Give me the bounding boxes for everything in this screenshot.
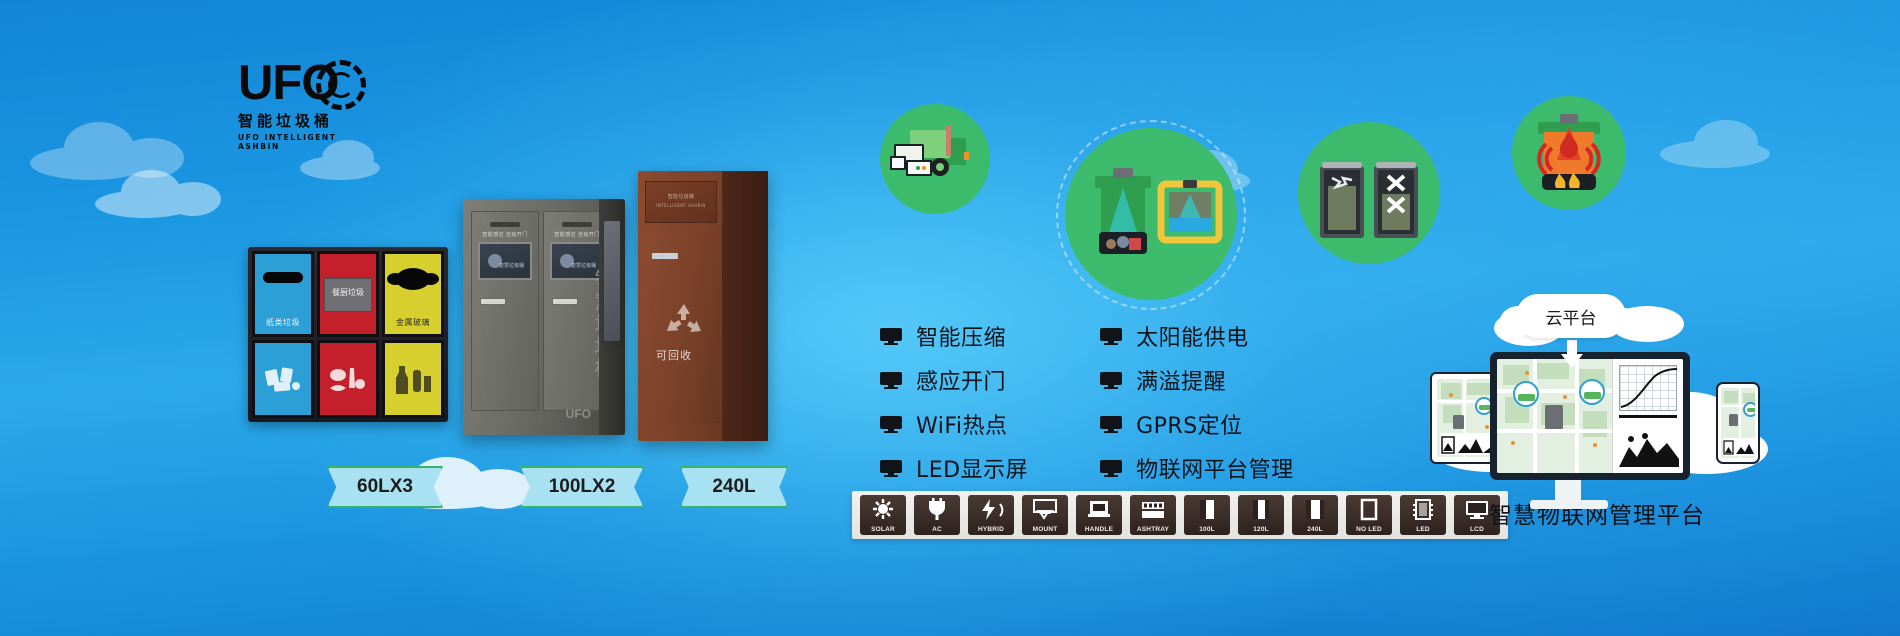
waste-round-slot-icon: [396, 268, 430, 290]
brown-bin-badge: [652, 253, 678, 259]
iot-platform-graphic: 云平台: [1430, 300, 1760, 530]
monitor-icon: [1100, 460, 1122, 477]
door-caption: 智能感应 自动开门: [482, 231, 527, 238]
fill-level-illustration: [1065, 128, 1237, 300]
door-caption: 智能感应 自动开门: [554, 231, 599, 238]
grey-bin-door-left: 智能感应 自动开门 智慧垃圾桶: [471, 211, 539, 411]
monitor-screen: [1497, 359, 1683, 473]
option-capacity-100l-icon[interactable]: 100L: [1184, 495, 1230, 535]
display-text: 智慧垃圾桶: [571, 262, 596, 269]
option-wall-mount-icon[interactable]: MOUNT: [1022, 495, 1068, 535]
capacity-label: 100LX2: [549, 476, 616, 498]
capacity-badge-100lx2: 100LX2: [520, 466, 644, 508]
feature-label: 物联网平台管理: [1136, 452, 1294, 484]
bin-compartment-kitchen: 餐厨垃圾: [317, 251, 379, 418]
smartphone-device: [1716, 382, 1760, 464]
capacity-label: 240L: [712, 476, 755, 498]
feature-circle-fill-level: [1065, 128, 1237, 300]
feature-label: 满溢提醒: [1136, 364, 1226, 396]
desktop-monitor: [1490, 352, 1690, 480]
capacity-label: 60LX3: [357, 476, 413, 498]
option-label: 120L: [1238, 526, 1284, 533]
monitor-foot: [1530, 500, 1608, 509]
monitor-icon: [880, 372, 902, 389]
option-label: 100L: [1184, 526, 1230, 533]
cloud-platform-label: 云平台: [1516, 294, 1626, 338]
feature-item: 满溢提醒: [1100, 364, 1294, 396]
grey-bin-side-panel: [599, 199, 625, 435]
feature-item: 太阳能供电: [1100, 320, 1294, 352]
feature-label: LED显示屏: [916, 452, 1028, 484]
feature-label: 感应开门: [916, 364, 1006, 396]
option-label: HYBRID: [968, 526, 1014, 533]
kitchen-waste-illustration: [326, 362, 370, 396]
feature-item: 智能压缩: [880, 320, 1028, 352]
feature-item: GPRS定位: [1100, 408, 1294, 440]
feature-label: GPRS定位: [1136, 408, 1243, 440]
option-label: 240L: [1292, 526, 1338, 533]
chart-pane: [1612, 359, 1683, 473]
bin-compartment-paper: 纸类垃圾: [252, 251, 314, 418]
logo-ring-icon: [316, 60, 366, 110]
area-chart: [1619, 433, 1679, 467]
monitor-icon: [1100, 328, 1122, 345]
brown-bin-top-en: INTELLIGENT ASHBIN: [646, 203, 716, 208]
feature-item: LED显示屏: [880, 452, 1028, 484]
monitor-icon: [880, 328, 902, 345]
monitor-icon: [880, 416, 902, 433]
product-grey-smart-bin: 智能感应 自动开门 智慧垃圾桶 智能感应 自动开门 智慧垃圾桶 智慧垃圾桶 UF…: [463, 199, 625, 435]
metal-glass-illustration: [391, 362, 435, 396]
capacity-badge-60lx3: 60LX3: [327, 466, 443, 508]
product-brown-bin: 智能垃圾桶 INTELLIGENT ASHBIN 可回收: [638, 171, 768, 441]
option-solar-panel-icon[interactable]: SOLAR: [860, 495, 906, 535]
option-handle-icon[interactable]: HANDLE: [1076, 495, 1122, 535]
feature-column-right: 太阳能供电 满溢提醒 GPRS定位 物联网平台管理: [1100, 320, 1294, 484]
cloud-decoration: [95, 170, 245, 224]
waste-slot-icon: [263, 272, 303, 283]
feature-column-left: 智能压缩 感应开门 WiFi热点 LED显示屏: [880, 320, 1028, 484]
option-label: HANDLE: [1076, 526, 1122, 533]
compaction-illustration: [1298, 122, 1440, 264]
option-label: MOUNT: [1022, 526, 1068, 533]
download-arrow-icon: [1560, 340, 1584, 370]
led-display-panel: 智慧垃圾桶: [478, 242, 532, 280]
feature-circle-fire-alarm: [1512, 96, 1626, 210]
feature-label: WiFi热点: [916, 408, 1008, 440]
vent-icon: [562, 222, 592, 227]
tablet-screen: [1437, 379, 1495, 457]
fire-alarm-illustration: [1512, 96, 1626, 210]
brown-bin-side: [722, 171, 768, 441]
cloud-platform-text: 云平台: [1546, 304, 1597, 329]
option-label: SOLAR: [860, 526, 906, 533]
option-hybrid-power-icon[interactable]: HYBRID: [968, 495, 1014, 535]
paper-waste-illustration: [261, 362, 305, 396]
product-triple-bin: 纸类垃圾 餐厨垃圾: [248, 247, 448, 422]
option-label: NO LED: [1346, 526, 1392, 533]
door-handle[interactable]: [480, 298, 506, 305]
recycle-icon: [662, 301, 706, 341]
option-capacity-240l-icon[interactable]: 240L: [1292, 495, 1338, 535]
fleet-monitoring-illustration: [880, 104, 990, 214]
feature-list: 智能压缩 感应开门 WiFi热点 LED显示屏 太阳能供电 满溢提醒: [880, 320, 1294, 484]
monitor-icon: [880, 460, 902, 477]
option-ac-plug-icon[interactable]: AC: [914, 495, 960, 535]
option-label: AC: [914, 526, 960, 533]
feature-item: 感应开门: [880, 364, 1028, 396]
feature-item: 物联网平台管理: [1100, 452, 1294, 484]
map-marker-bubble: [1513, 381, 1539, 407]
monitor-icon: [1100, 372, 1122, 389]
capacity-badge-240l: 240L: [680, 466, 788, 508]
side-strip: [604, 221, 620, 341]
feature-label: 太阳能供电: [1136, 320, 1249, 352]
map-pane: [1497, 359, 1612, 473]
feature-circle-fleet-monitoring: [880, 104, 990, 214]
option-icon-strip: SOLAR AC HYBRID MOUNT HANDLE ASHTRAY 100…: [852, 491, 1508, 539]
option-capacity-120l-icon[interactable]: 120L: [1238, 495, 1284, 535]
door-handle[interactable]: [552, 298, 578, 305]
grey-bin-brand-mark: UFO: [566, 407, 591, 421]
feature-item: WiFi热点: [880, 408, 1028, 440]
line-chart: [1619, 365, 1679, 411]
monitor-icon: [1100, 416, 1122, 433]
brown-bin-recycle-label: 可回收: [656, 347, 692, 363]
option-ashtray-icon[interactable]: ASHTRAY: [1130, 495, 1176, 535]
compartment-label: 餐厨垃圾: [320, 287, 376, 298]
compartment-label: 纸类垃圾: [255, 317, 311, 328]
logo-english-name: UFO INTELLIGENT ASHBIN: [238, 133, 363, 151]
brown-bin-top-label: 智能垃圾桶 INTELLIGENT ASHBIN: [645, 181, 717, 223]
promo-banner: UFO 智能垃圾桶 UFO INTELLIGENT ASHBIN 纸类垃圾: [0, 0, 1900, 636]
vent-icon: [490, 222, 520, 227]
cloud-decoration: [1660, 120, 1830, 174]
monitor-stand: [1555, 480, 1581, 502]
brown-bin-top-cn: 智能垃圾桶: [646, 193, 716, 200]
logo-chinese-name: 智能垃圾桶: [238, 110, 363, 131]
map-marker-bubble: [1579, 379, 1605, 405]
option-label: ASHTRAY: [1130, 526, 1176, 533]
compartment-label: 金属玻璃: [385, 317, 441, 328]
feature-circle-compaction: [1298, 122, 1440, 264]
bin-compartment-metal-glass: 金属玻璃: [382, 251, 444, 418]
feature-label: 智能压缩: [916, 320, 1006, 352]
phone-screen: [1721, 388, 1755, 458]
brand-logo: UFO 智能垃圾桶 UFO INTELLIGENT ASHBIN: [238, 58, 363, 143]
option-no-led-icon[interactable]: NO LED: [1346, 495, 1392, 535]
display-text: 智慧垃圾桶: [499, 262, 524, 269]
